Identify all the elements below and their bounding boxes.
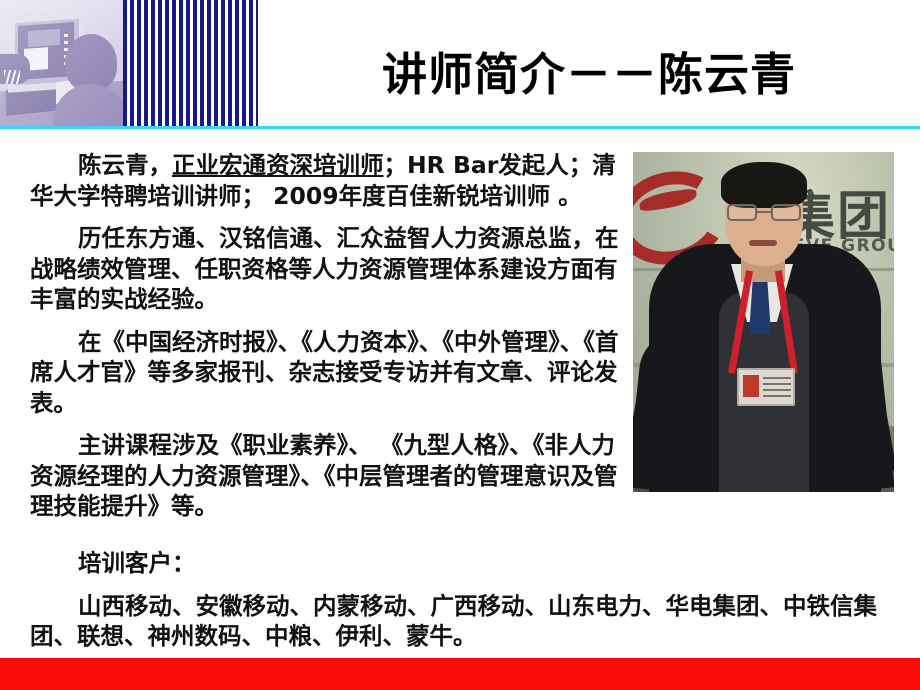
paragraph-segment: 在《中国经济时报》、《人力资本》、《中外管理》、《首席人才官》等多家报刊、杂志接…: [30, 328, 619, 417]
clients-label: 培训客户：: [0, 548, 890, 579]
page-title-text: 讲师简介－－陈云青: [382, 38, 796, 103]
paragraph-bio-intro: 陈云青，正业宏通资深培训师；HR Bar发起人；清华大学特聘培训讲师； 2009…: [0, 150, 635, 211]
header-stripe-band: [123, 0, 258, 126]
paragraph-bio-experience: 历任东方通、汉铭信通、汇众益智人力资源总监，在战略绩效管理、任职资格等人力资源管…: [0, 223, 635, 315]
paragraph-segment: 正业宏通资深培训师: [172, 151, 384, 179]
slide-body: 陈云青，正业宏通资深培训师；HR Bar发起人；清华大学特聘培训讲师； 2009…: [0, 150, 920, 664]
header-divider: [0, 126, 920, 129]
slide-header: 讲师简介－－陈云青: [0, 0, 920, 126]
footer-accent-bar: [0, 658, 920, 690]
header-illustration-icon: [0, 0, 123, 126]
paragraph-segment: 历任东方通、汉铭信通、汇众益智人力资源总监，在战略绩效管理、任职资格等人力资源管…: [30, 224, 619, 313]
page-title: 讲师简介－－陈云青: [258, 0, 920, 126]
paragraph-segment: 陈云青，: [78, 151, 172, 179]
clients-list: 山西移动、安徽移动、内蒙移动、广西移动、山东电力、华电集团、中铁信集团、联想、神…: [0, 591, 890, 652]
paragraph-bio-media: 在《中国经济时报》、《人力资本》、《中外管理》、《首席人才官》等多家报刊、杂志接…: [0, 327, 635, 419]
body-spacer: [0, 534, 920, 548]
slide-canvas: 讲师简介－－陈云青 集团 IEVE GROUP: [0, 0, 920, 690]
paragraph-bio-courses: 主讲课程涉及《职业素养》、 《九型人格》、《非人力资源经理的人力资源管理》、《中…: [0, 430, 635, 522]
paragraph-segment: 主讲课程涉及《职业素养》、 《九型人格》、《非人力资源经理的人力资源管理》、《中…: [30, 431, 618, 520]
illustration-overlay: [0, 0, 123, 126]
